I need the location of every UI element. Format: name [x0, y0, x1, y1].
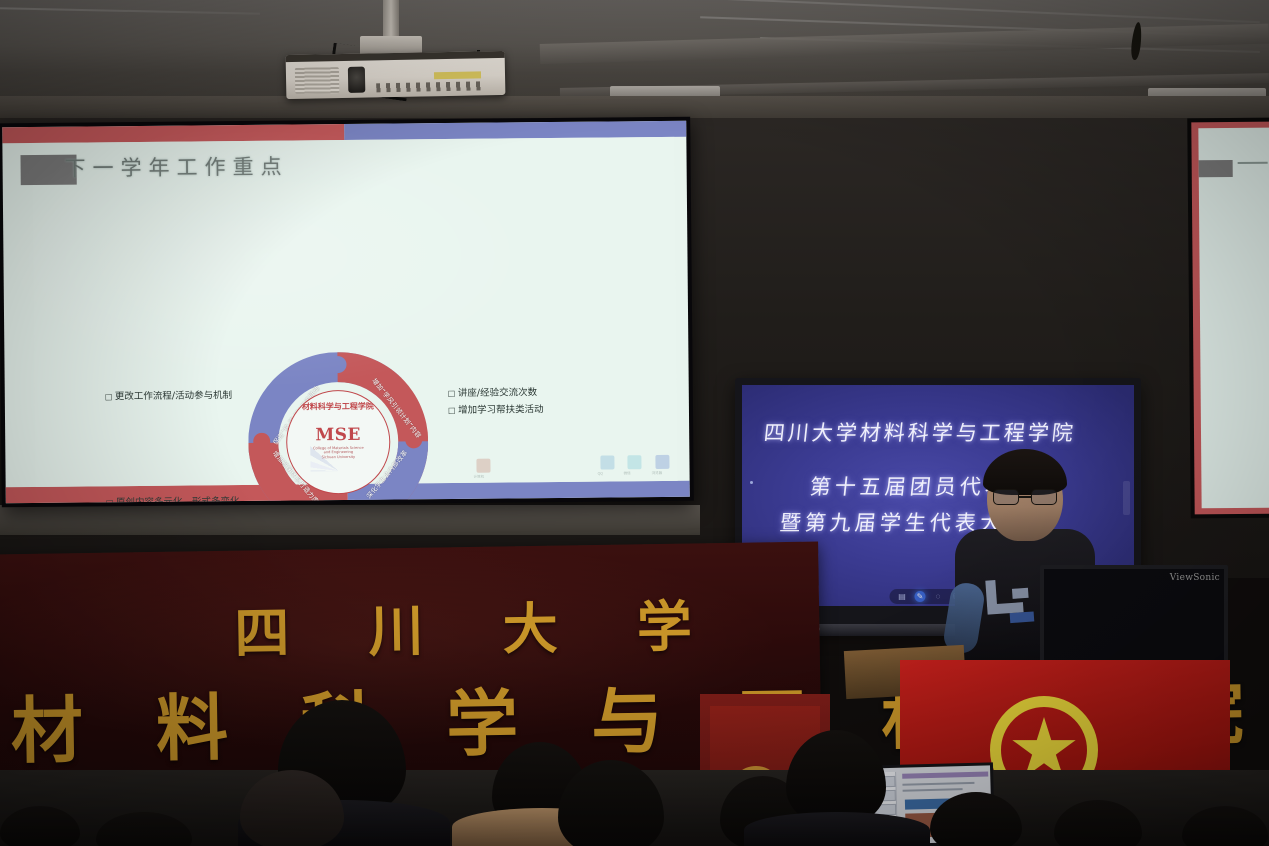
- logo-center-cn: 材料科学与工程学院: [302, 401, 374, 413]
- event-banner: 四 川 大 学 材 料 科 学 与 工 程 学 院: [0, 541, 822, 794]
- logo-abbrev: MSE: [315, 425, 361, 445]
- ceiling-beam: [540, 24, 1269, 64]
- audience-shoulders: [744, 812, 930, 846]
- ceiling-seam: [0, 7, 260, 14]
- laptop-slide-title: [902, 771, 988, 778]
- projector-vent: [295, 67, 339, 94]
- bullet-item: 原创内容多元化、形式多变化: [106, 493, 249, 503]
- laptop-slide-text: [902, 782, 974, 786]
- tshirt-graphic: [981, 575, 1041, 633]
- browser-icon[interactable]: [655, 455, 669, 469]
- lecture-hall-photo: 下一学年工作重点 更改工作流程/活动参与机制 讲座/经验交流次数 增加学习帮扶类…: [0, 0, 1269, 846]
- puzzle-knob: [253, 433, 270, 450]
- desktop-icon-label: 计算机: [474, 475, 485, 480]
- qq-icon[interactable]: [600, 455, 614, 469]
- bullets-top-left: 更改工作流程/活动参与机制: [105, 387, 232, 405]
- secondary-slide-body: [1198, 128, 1269, 509]
- logo-en-line1: College of Materials Science and Enginee…: [313, 446, 364, 454]
- bullet-item: 更改工作流程/活动参与机制: [105, 387, 232, 405]
- glasses-lens-right: [1031, 489, 1057, 505]
- whiteboard-indicator-dot: [750, 481, 753, 484]
- wechat-icon[interactable]: [627, 455, 641, 469]
- screenshot-icon[interactable]: ▤: [897, 591, 908, 602]
- secondary-title-text: [1238, 162, 1268, 164]
- college-puzzle-logo: 促进“校·院·班”三级联动 增加“学风引领计划”内容 深化学生会内部改革 增加班…: [247, 351, 429, 503]
- banner-line-1: 四 川 大 学: [234, 581, 723, 669]
- logo-en-line2: Sichuan University: [313, 455, 364, 459]
- desktop-icon-label: 微信: [624, 471, 631, 476]
- monitor-brand-label: ViewSonic: [1170, 573, 1220, 583]
- projector-ports: [376, 81, 481, 92]
- bullets-top-right: 讲座/经验交流次数 增加学习帮扶类活动: [448, 384, 544, 419]
- desk-monitor: ViewSonic: [1040, 565, 1228, 665]
- ceiling-projector: [286, 51, 506, 99]
- projector-label: [434, 71, 481, 79]
- eraser-icon[interactable]: ◌: [933, 591, 944, 602]
- secondary-title-accent: [1199, 160, 1233, 177]
- pen-icon[interactable]: ✎: [915, 591, 926, 602]
- handwriting-line-1: 四川大学材料科学与工程学院: [762, 417, 1077, 447]
- wall-trim: [0, 505, 700, 535]
- bullet-item: 讲座/经验交流次数: [448, 384, 544, 402]
- logo-center-text: MSE College of Materials Science and Eng…: [313, 425, 364, 459]
- puzzle-knob: [329, 356, 346, 373]
- secondary-slide: [1191, 122, 1269, 515]
- glasses-icon: [993, 489, 1057, 505]
- logo-center-seal: 材料科学与工程学院 MSE College of Materials Scien…: [286, 390, 391, 495]
- desktop-icon-label: 浏览器: [652, 471, 663, 476]
- glasses-lens-left: [993, 489, 1019, 505]
- projector-lens: [348, 67, 365, 93]
- glasses-bridge: [1019, 496, 1031, 498]
- presentation-slide: 下一学年工作重点 更改工作流程/活动参与机制 讲座/经验交流次数 增加学习帮扶类…: [2, 121, 690, 504]
- main-projection-screen: 下一学年工作重点 更改工作流程/活动参与机制 讲座/经验交流次数 增加学习帮扶类…: [0, 117, 694, 508]
- secondary-projection-screen: [1187, 118, 1269, 519]
- computer-icon[interactable]: [476, 459, 490, 473]
- bullets-bottom-left: 原创内容多元化、形式多变化 增加思想政治教育板块 增加线上活动 积极促进线上意见…: [106, 493, 250, 503]
- whiteboard-side-handle[interactable]: [1123, 481, 1130, 515]
- bullet-item: 增加学习帮扶类活动: [448, 401, 544, 419]
- laptop-slide-text: [903, 788, 963, 792]
- desktop-icon-label: QQ: [598, 472, 603, 476]
- ceiling-seam: [560, 0, 1259, 23]
- slide-title: 下一学年工作重点: [64, 151, 288, 183]
